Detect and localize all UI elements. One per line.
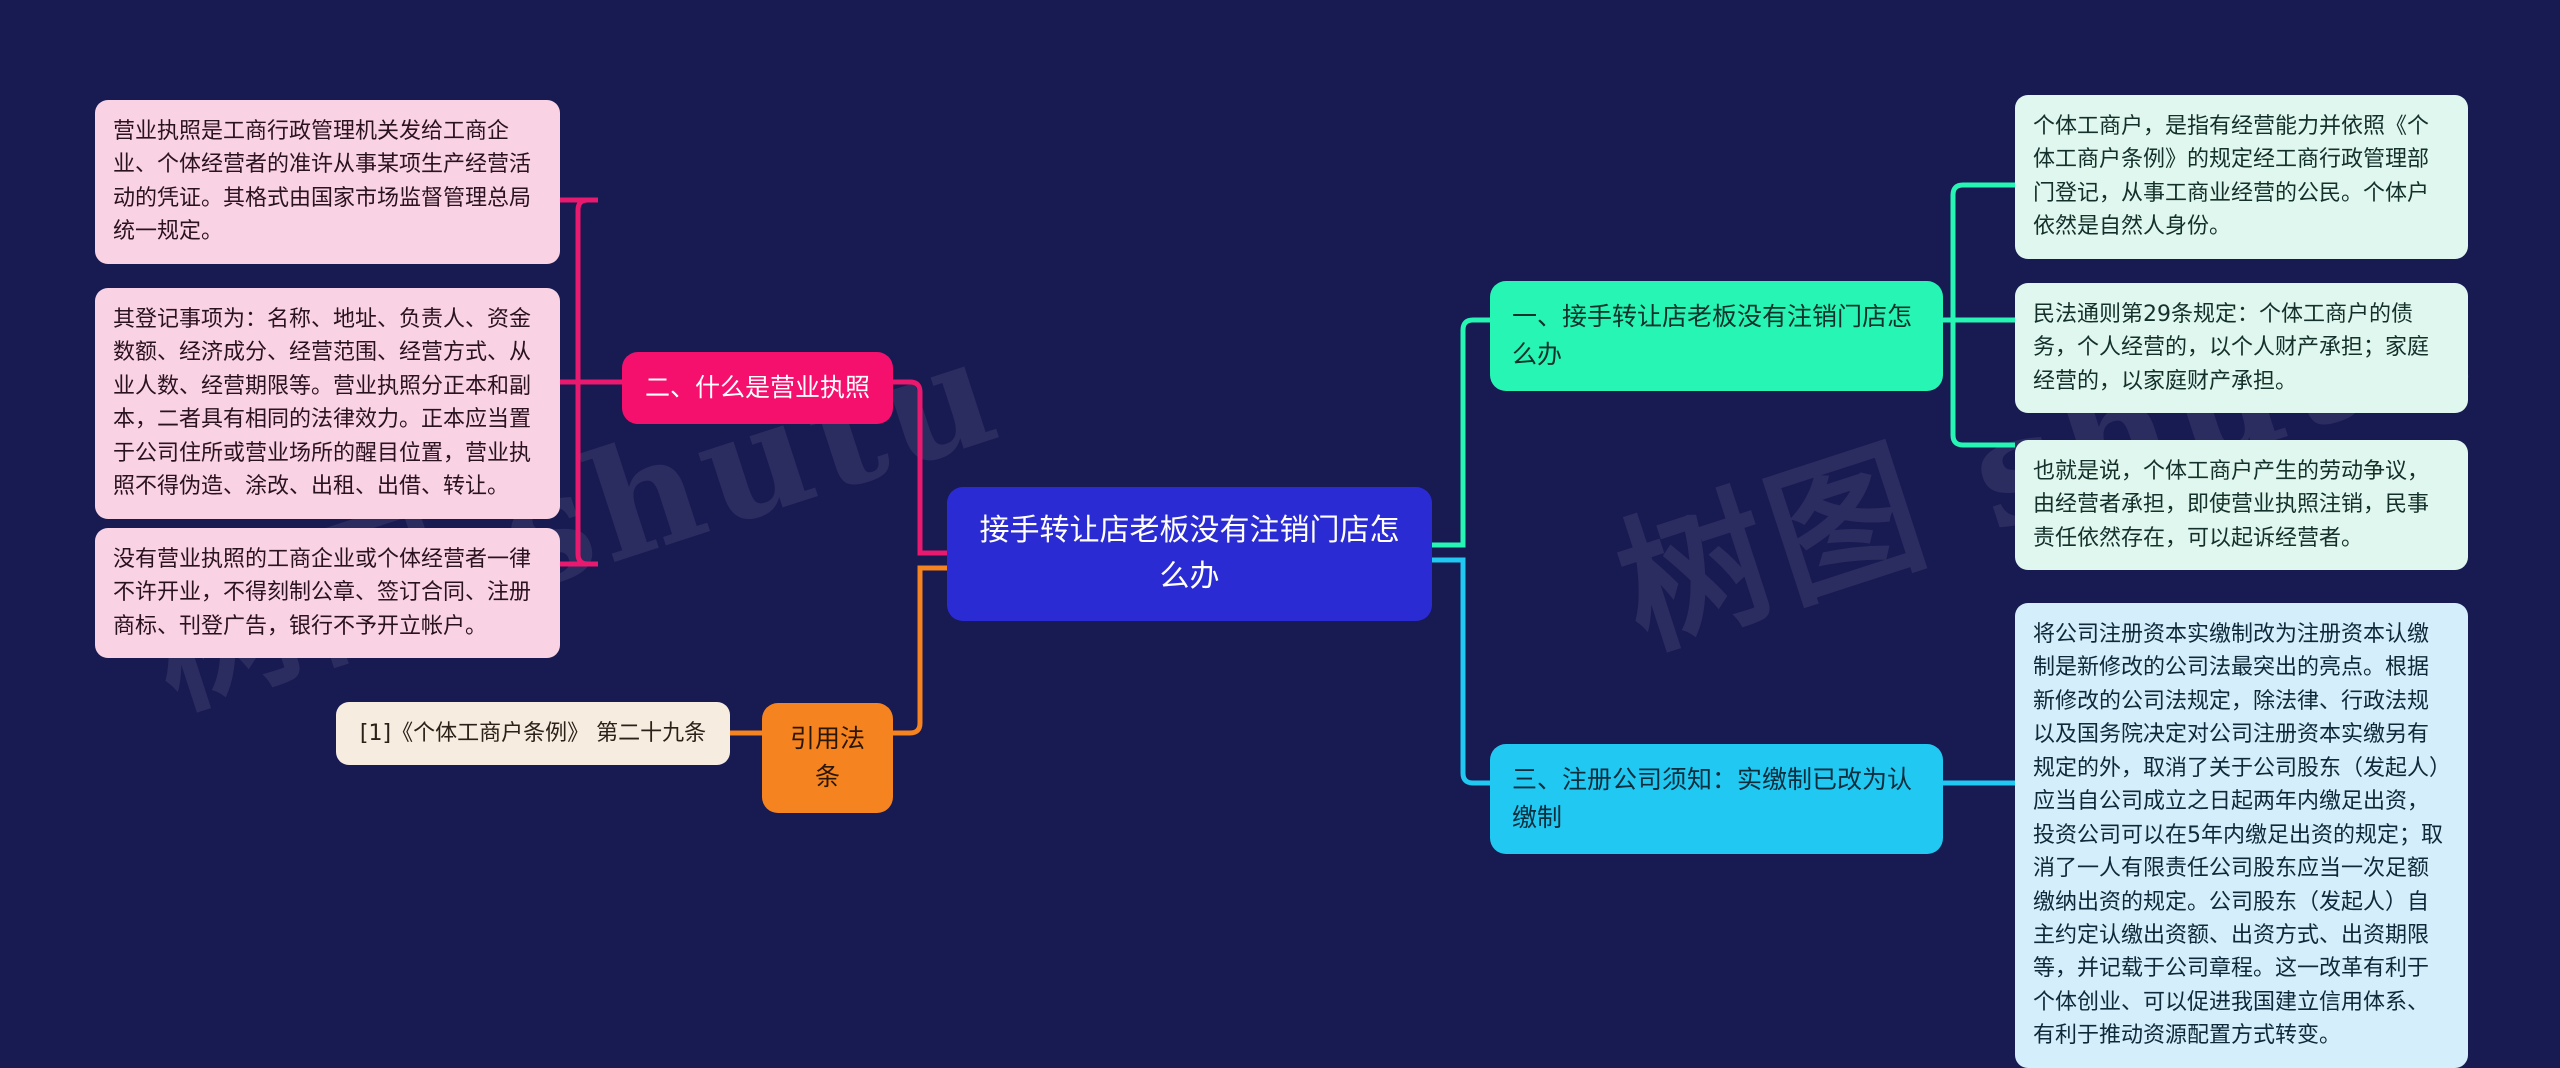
branch-node-not-deregistered[interactable]: 一、接手转让店老板没有注销门店怎么办 <box>1490 281 1943 391</box>
leaf-card[interactable]: 个体工商户，是指有经营能力并依照《个体工商户条例》的规定经工商行政管理部门登记，… <box>2015 95 2468 259</box>
link-root-to-branch-one <box>1432 320 1490 545</box>
branch-node-cited-law[interactable]: 引用法条 <box>762 703 893 813</box>
leaf-card[interactable]: 将公司注册资本实缴制改为注册资本认缴制是新修改的公司法最突出的亮点。根据新修改的… <box>2015 603 2468 1068</box>
leaf-card[interactable]: 营业执照是工商行政管理机关发给工商企业、个体经营者的准许从事某项生产经营活动的凭… <box>95 100 560 264</box>
leaf-card[interactable]: 民法通则第29条规定：个体工商户的债务，个人经营的，以个人财产承担；家庭经营的，… <box>2015 283 2468 413</box>
leaf-card-citation[interactable]: [1]《个体工商户条例》 第二十九条 <box>336 702 730 765</box>
leaf-card[interactable]: 没有营业执照的工商企业或个体经营者一律不许开业，不得刻制公章、签订合同、注册商标… <box>95 528 560 658</box>
mindmap-canvas: 树图 shutu 树图 shutu 营业执照是工商行政管理机关发给工商企业、个体… <box>0 0 2560 1063</box>
branch-node-what-is-license[interactable]: 二、什么是营业执照 <box>622 352 893 424</box>
branch-node-registration-notice[interactable]: 三、注册公司须知：实缴制已改为认缴制 <box>1490 744 1943 854</box>
root-node[interactable]: 接手转让店老板没有注销门店怎么办 <box>947 487 1432 621</box>
link-root-to-branch-three <box>1432 560 1490 783</box>
leaf-card[interactable]: 其登记事项为：名称、地址、负责人、资金数额、经济成分、经营范围、经营方式、从业人… <box>95 288 560 519</box>
leaf-card[interactable]: 也就是说，个体工商户产生的劳动争议，由经营者承担，即使营业执照注销，民事责任依然… <box>2015 440 2468 570</box>
